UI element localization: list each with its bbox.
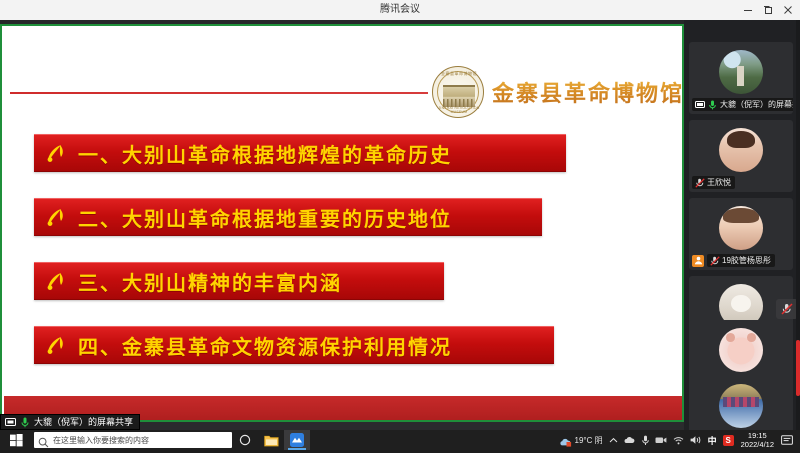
notification-icon[interactable] (778, 430, 796, 450)
mic-muted-icon (694, 177, 705, 188)
participant-badge-row: 王欣悦 (692, 176, 735, 189)
participant-badge-row: 大貔（倪军）的屏幕共享 (692, 98, 793, 111)
seal-top-text: 金寨县革命博物馆 (433, 71, 485, 77)
search-icon (38, 435, 49, 446)
avatar (719, 384, 763, 428)
maximize-button[interactable] (758, 0, 778, 20)
slide-banner-text: 三、大别山精神的丰富内涵 (78, 267, 342, 296)
avatar (719, 328, 763, 372)
seal-bottom-text: JINZHAI REVOLUTION MUSEUM (433, 106, 485, 114)
museum-seal-icon: 金寨县革命博物馆 JINZHAI REVOLUTION MUSEUM (432, 66, 484, 118)
windows-start-icon[interactable] (0, 430, 32, 450)
hammer-sickle-icon (42, 204, 68, 230)
taskbar-clock[interactable]: 19:15 2022/4/12 (737, 430, 778, 450)
participant-tile[interactable]: 王欣悦 (689, 120, 793, 192)
system-tray: 19°C 阴 中 S (556, 430, 800, 450)
slide-banner-text: 二、大别山革命根据地重要的历史地位 (78, 203, 452, 232)
cortana-icon[interactable] (232, 430, 258, 450)
microphone-tray-icon[interactable] (639, 430, 652, 450)
weather-cloudy-icon (559, 435, 572, 446)
slide-banner-item: 四、金寨县革命文物资源保护利用情况 (34, 326, 554, 364)
slide-banner-item: 一、大别山革命根据地辉煌的革命历史 (34, 134, 566, 172)
close-button[interactable] (778, 0, 798, 20)
tencent-meeting-icon[interactable] (284, 430, 310, 450)
participant-name: 王欣悦 (707, 177, 731, 188)
sogou-input-icon[interactable]: S (720, 430, 737, 450)
screen-share-frame: 金寨县革命博物馆 JINZHAI REVOLUTION MUSEUM 金寨县革命… (0, 24, 684, 422)
participant-tile[interactable]: 汪潮洋 (689, 376, 793, 430)
wifi-icon[interactable] (670, 430, 687, 450)
sidebar-scrollbar-thumb[interactable] (796, 340, 800, 396)
presentation-slide: 金寨县革命博物馆 JINZHAI REVOLUTION MUSEUM 金寨县革命… (4, 28, 682, 420)
ime-label: 中 (708, 434, 717, 447)
museum-name-text: 金寨县革命博物馆 (492, 76, 682, 108)
avatar (719, 128, 763, 172)
weather-widget[interactable]: 19°C 阴 (556, 430, 606, 450)
meeting-tray-icon[interactable] (652, 430, 670, 450)
slide-banner-text: 一、大别山革命根据地辉煌的革命历史 (78, 139, 452, 168)
museum-logo: 金寨县革命博物馆 JINZHAI REVOLUTION MUSEUM 金寨县革命… (428, 64, 676, 120)
clock-date: 2022/4/12 (741, 440, 774, 449)
screen-share-notice-label: 大貔（倪军）的屏幕共享 (34, 415, 133, 429)
mic-muted-icon[interactable] (776, 299, 798, 319)
onedrive-icon[interactable] (621, 430, 639, 450)
seal-building-icon (443, 85, 475, 107)
participant-badge-row: 19胶管杨思彤 (692, 254, 775, 267)
presenter-badge-icon (692, 255, 704, 267)
screen-share-icon (4, 417, 16, 428)
clock-time: 19:15 (741, 431, 774, 440)
microphone-icon (707, 99, 718, 110)
participant-name: 19胶管杨思彤 (722, 255, 771, 266)
window-title: 腾讯会议 (0, 0, 800, 20)
avatar (719, 206, 763, 250)
window-controls (738, 0, 798, 20)
sogou-label: S (723, 435, 734, 446)
slide-banner-item: 三、大别山精神的丰富内涵 (34, 262, 444, 300)
slide-banner-list: 一、大别山革命根据地辉煌的革命历史 二、大别山革命根据地重要的历史地位 (34, 134, 654, 390)
desktop-screen: 腾讯会议 金寨县革命博物馆 (0, 0, 800, 450)
chevron-up-icon[interactable] (606, 430, 621, 450)
minimize-button[interactable] (738, 0, 758, 20)
file-explorer-icon[interactable] (258, 430, 284, 450)
window-titlebar: 腾讯会议 (0, 0, 800, 21)
screen-share-icon (694, 99, 705, 110)
sidebar-scrollbar[interactable] (796, 20, 800, 430)
participant-tile[interactable]: 19胶管杨思彤 (689, 198, 793, 270)
slide-banner-text: 四、金寨县革命文物资源保护利用情况 (78, 331, 452, 360)
microphone-icon (19, 417, 31, 428)
weather-text: 19°C 阴 (575, 435, 603, 446)
hammer-sickle-icon (42, 268, 68, 294)
search-input[interactable]: 在这里输入你要搜索的内容 (34, 432, 232, 448)
ime-indicator[interactable]: 中 (705, 430, 720, 450)
shared-screen-stage[interactable]: 金寨县革命博物馆 JINZHAI REVOLUTION MUSEUM 金寨县革命… (0, 24, 684, 430)
volume-icon[interactable] (687, 430, 705, 450)
participants-sidebar[interactable]: 大貔（倪军）的屏幕共享 王欣悦 (684, 20, 800, 430)
participant-name: 大貔（倪军）的屏幕共享 (720, 99, 793, 110)
hammer-sickle-icon (42, 332, 68, 358)
avatar (719, 50, 763, 94)
screen-share-notice: 大貔（倪军）的屏幕共享 (0, 414, 140, 430)
meeting-window: 金寨县革命博物馆 JINZHAI REVOLUTION MUSEUM 金寨县革命… (0, 20, 800, 430)
windows-taskbar: 在这里输入你要搜索的内容 19°C 阴 (0, 430, 800, 450)
participant-tile[interactable]: 大貔（倪军）的屏幕共享 (689, 42, 793, 114)
slide-banner-item: 二、大别山革命根据地重要的历史地位 (34, 198, 542, 236)
hammer-sickle-icon (42, 140, 68, 166)
mic-muted-icon (709, 255, 720, 266)
search-placeholder: 在这里输入你要搜索的内容 (53, 435, 149, 446)
